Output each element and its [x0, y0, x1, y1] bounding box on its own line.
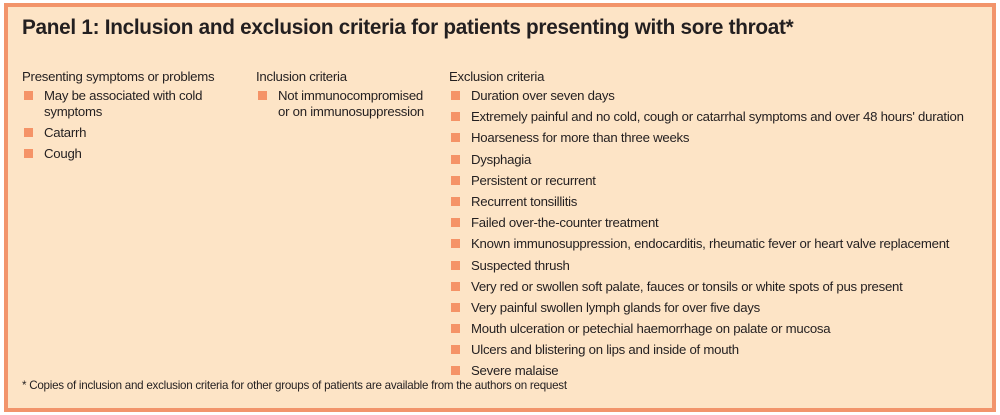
list-item: Dysphagia [449, 152, 994, 168]
column-heading-exclusion-criteria: Exclusion criteria [449, 69, 994, 84]
list-item-text: Cough [44, 146, 254, 162]
column-heading-presenting-symptoms: Presenting symptoms or problems [22, 69, 254, 84]
list-item-text: Failed over-the-counter treatment [471, 215, 994, 231]
column-inclusion-criteria: Inclusion criteria Not immunocompromised… [256, 69, 448, 125]
list-item-text: Duration over seven days [471, 88, 994, 104]
bullet-square-icon [451, 91, 460, 100]
list-item: Severe malaise [449, 363, 994, 379]
list-item-text-cont: symptoms [44, 104, 254, 120]
bullet-square-icon [451, 324, 460, 333]
list-item: Recurrent tonsillitis [449, 194, 994, 210]
list-item: Known immunosuppression, endocarditis, r… [449, 236, 994, 252]
list-item-text-cont: or on immunosuppression [278, 104, 448, 120]
list-item-text: Known immunosuppression, endocarditis, r… [471, 236, 994, 252]
list-item-text: Extremely painful and no cold, cough or … [471, 109, 994, 125]
column-presenting-symptoms: Presenting symptoms or problems May be a… [22, 69, 254, 167]
bullet-square-icon [258, 91, 267, 100]
bullet-square-icon [451, 303, 460, 312]
list-item-text: Severe malaise [471, 363, 994, 379]
bullet-square-icon [451, 345, 460, 354]
bullet-square-icon [451, 197, 460, 206]
panel-container: Panel 1: Inclusion and exclusion criteri… [4, 3, 996, 412]
list-item: Hoarseness for more than three weeks [449, 130, 994, 146]
list-item: Very red or swollen soft palate, fauces … [449, 279, 994, 295]
list-item: Mouth ulceration or petechial haemorrhag… [449, 321, 994, 337]
bullet-square-icon [451, 261, 460, 270]
bullet-square-icon [451, 239, 460, 248]
list-item: Ulcers and blistering on lips and inside… [449, 342, 994, 358]
list-item-text: May be associated with cold [44, 88, 254, 104]
list-item: Not immunocompromised or on immunosuppre… [256, 88, 448, 119]
list-item-text: Very painful swollen lymph glands for ov… [471, 300, 994, 316]
list-item-text: Recurrent tonsillitis [471, 194, 994, 210]
column-exclusion-criteria: Exclusion criteria Duration over seven d… [449, 69, 994, 385]
presenting-symptoms-list: May be associated with cold symptoms Cat… [22, 88, 254, 161]
list-item: Cough [22, 146, 254, 162]
panel-footnote: * Copies of inclusion and exclusion crit… [22, 379, 567, 392]
list-item: Persistent or recurrent [449, 173, 994, 189]
panel-title: Panel 1: Inclusion and exclusion criteri… [22, 15, 793, 40]
list-item-text: Hoarseness for more than three weeks [471, 130, 994, 146]
list-item: Suspected thrush [449, 258, 994, 274]
list-item: Catarrh [22, 125, 254, 141]
list-item: May be associated with cold symptoms [22, 88, 254, 119]
list-item-text: Suspected thrush [471, 258, 994, 274]
list-item: Failed over-the-counter treatment [449, 215, 994, 231]
list-item-text: Persistent or recurrent [471, 173, 994, 189]
list-item-text: Not immunocompromised [278, 88, 448, 104]
bullet-square-icon [451, 282, 460, 291]
bullet-square-icon [24, 128, 33, 137]
panel-inner: Panel 1: Inclusion and exclusion criteri… [8, 7, 992, 408]
list-item: Duration over seven days [449, 88, 994, 104]
column-heading-inclusion-criteria: Inclusion criteria [256, 69, 448, 84]
list-item-text: Ulcers and blistering on lips and inside… [471, 342, 994, 358]
list-item-text: Dysphagia [471, 152, 994, 168]
list-item: Extremely painful and no cold, cough or … [449, 109, 994, 125]
bullet-square-icon [24, 91, 33, 100]
list-item-text: Mouth ulceration or petechial haemorrhag… [471, 321, 994, 337]
bullet-square-icon [24, 149, 33, 158]
bullet-square-icon [451, 218, 460, 227]
bullet-square-icon [451, 112, 460, 121]
list-item-text: Very red or swollen soft palate, fauces … [471, 279, 994, 295]
bullet-square-icon [451, 176, 460, 185]
exclusion-criteria-list: Duration over seven days Extremely painf… [449, 88, 994, 379]
bullet-square-icon [451, 366, 460, 375]
list-item-text: Catarrh [44, 125, 254, 141]
inclusion-criteria-list: Not immunocompromised or on immunosuppre… [256, 88, 448, 119]
bullet-square-icon [451, 133, 460, 142]
list-item: Very painful swollen lymph glands for ov… [449, 300, 994, 316]
bullet-square-icon [451, 155, 460, 164]
